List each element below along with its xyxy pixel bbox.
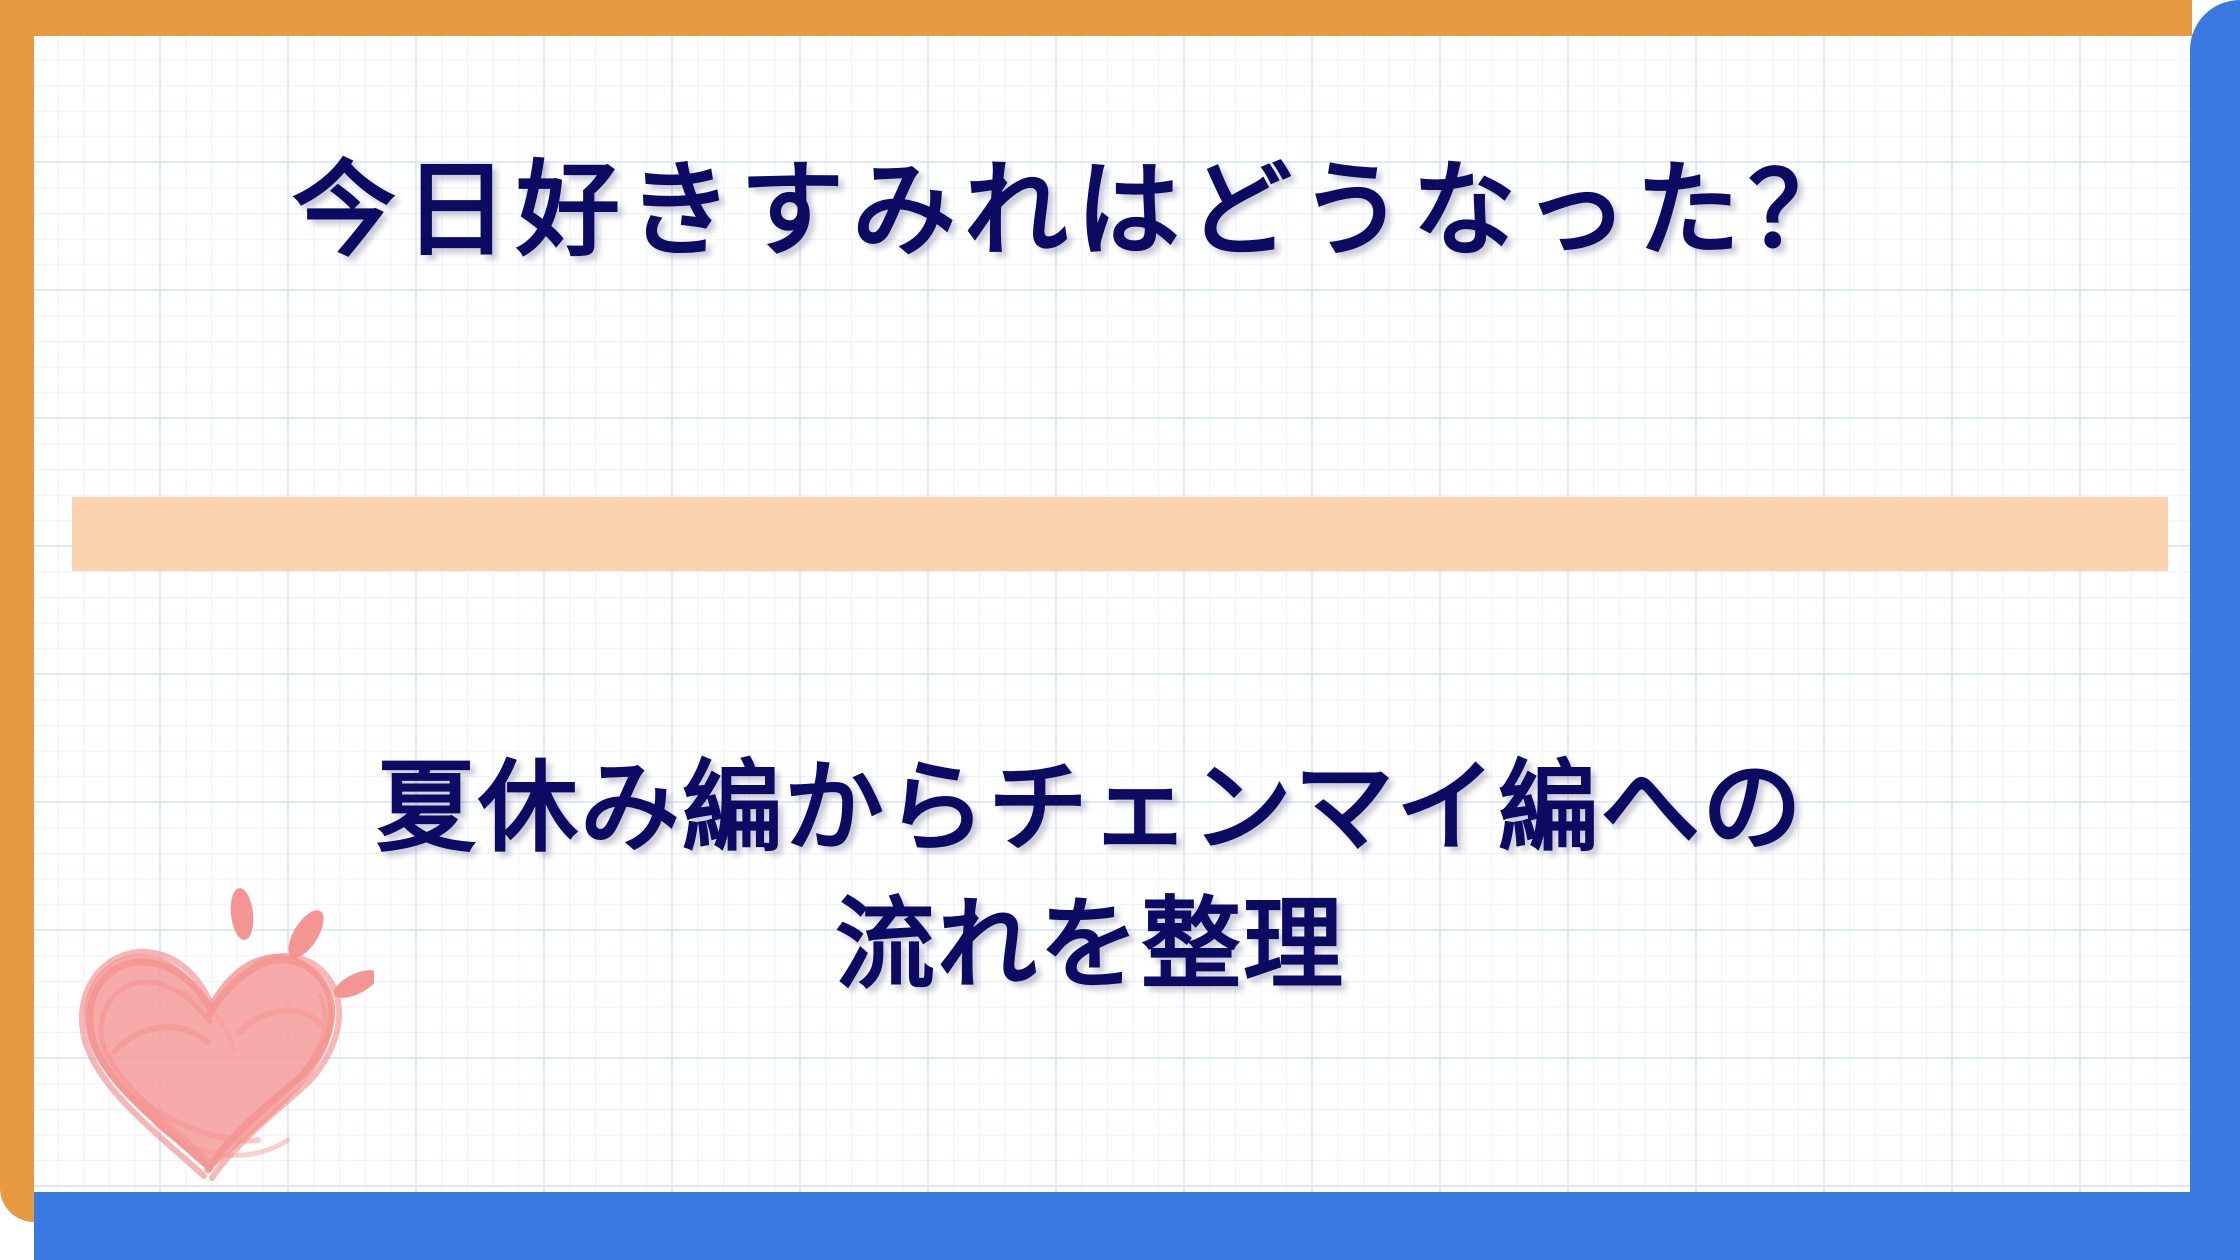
subtitle-line-2: 流れを整理 — [110, 877, 2070, 1014]
highlight-band — [72, 497, 2168, 571]
blue-bottom-bar — [34, 1192, 2240, 1260]
subtitle: 夏休み編からチェンマイ編への 流れを整理 — [110, 740, 2070, 1014]
subtitle-line-1: 夏休み編からチェンマイ編への — [110, 740, 2070, 877]
page-title: 今日好きすみれはどうなった？ — [96, 150, 2056, 273]
blue-right-bar — [2190, 0, 2240, 1260]
slide-canvas: 今日好きすみれはどうなった？ 夏休み編からチェンマイ編への 流れを整理 — [0, 0, 2240, 1260]
orange-left-bar — [0, 0, 34, 1222]
orange-top-bar — [0, 0, 2192, 36]
